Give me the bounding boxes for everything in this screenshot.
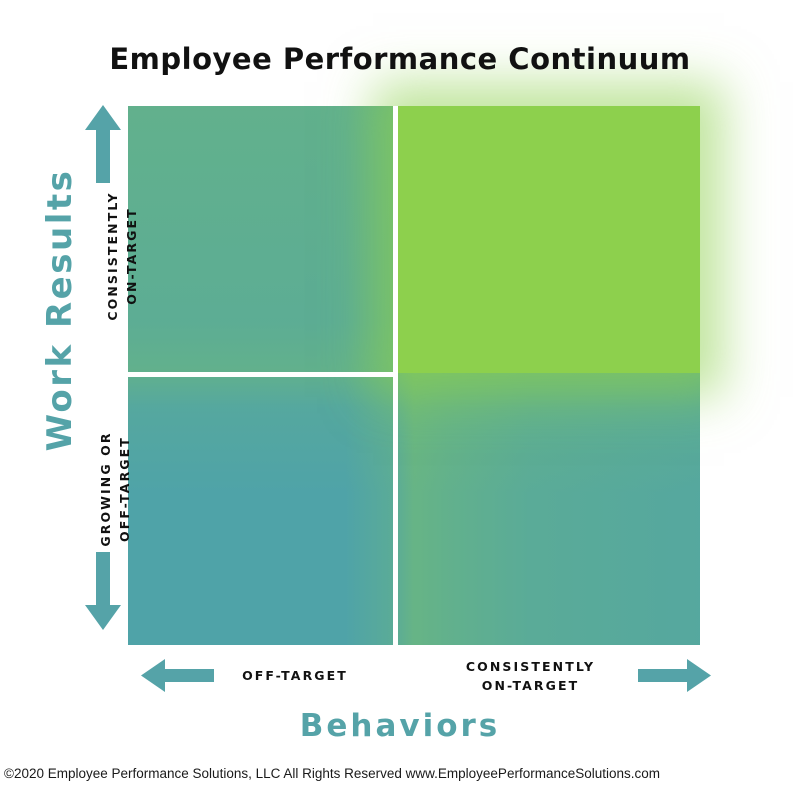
x-axis-tier-label-right: CONSISTENTLYON-TARGET — [423, 657, 638, 695]
page-title: Employee Performance Continuum — [0, 42, 800, 76]
quadrant-divider-horizontal — [128, 372, 397, 377]
y-axis-tier-label-high: CONSISTENTLYON-TARGET — [103, 156, 141, 356]
copyright-footer: ©2020 Employee Performance Solutions, LL… — [4, 766, 796, 781]
arrow-right-icon — [638, 659, 711, 692]
y-axis-title: Work Results — [40, 150, 80, 470]
performance-matrix — [128, 106, 700, 645]
x-axis-title: Behaviors — [0, 708, 800, 744]
arrow-down-icon — [85, 552, 121, 630]
x-axis-tier-label-left: OFF-TARGET — [200, 666, 390, 685]
quadrant-high-results-on-target-behaviors[interactable] — [397, 106, 700, 373]
arrow-up-icon — [85, 105, 121, 183]
